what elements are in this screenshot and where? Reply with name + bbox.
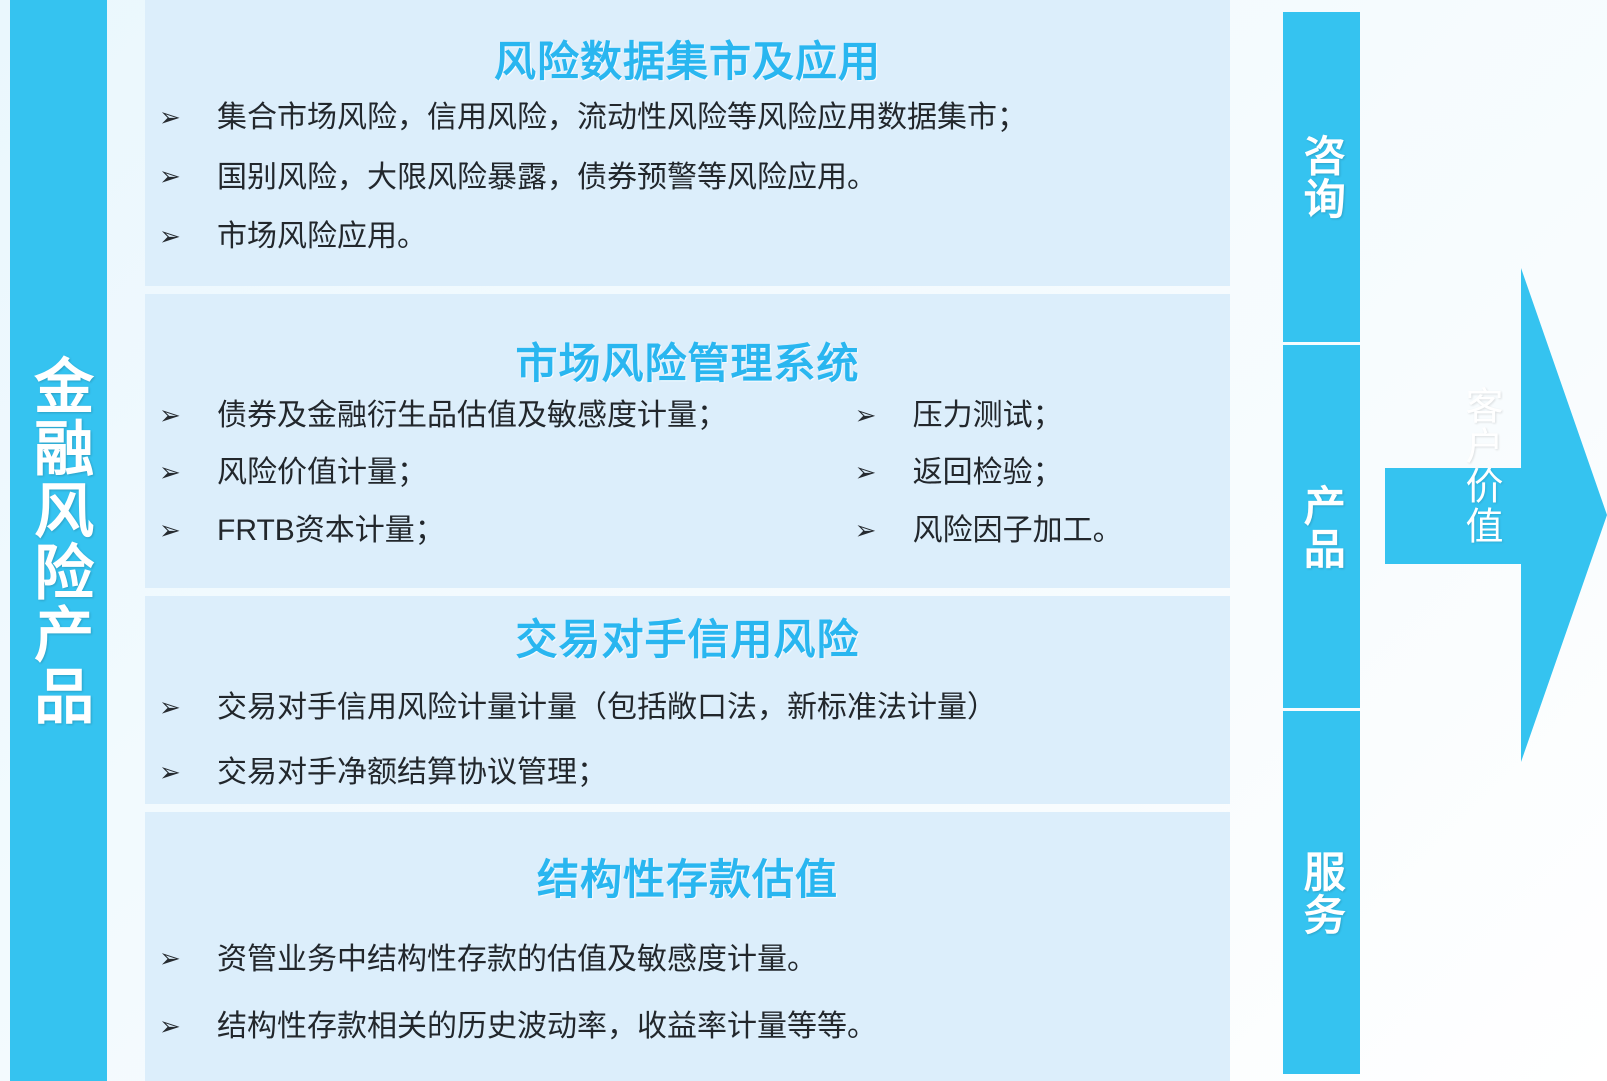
- bullet-item: ➢ 市场风险应用。: [159, 218, 1230, 256]
- pillar-segment-service: 服务: [1283, 711, 1360, 1074]
- arrow-bullet-icon: ➢: [159, 1013, 217, 1039]
- section-card-market-risk-system: 市场风险管理系统 ➢ 债券及金融衍生品估值及敏感度计量； ➢ 风险价值计量； ➢…: [145, 294, 1230, 588]
- arrow-bullet-icon: ➢: [159, 517, 217, 543]
- pillar-segment-consulting: 咨询: [1283, 12, 1360, 342]
- customer-value-arrow: 客户价值: [1380, 268, 1607, 762]
- bullet-item: ➢ 风险价值计量；: [159, 454, 841, 492]
- bullet-label: 风险价值计量；: [217, 454, 427, 492]
- arrow-bullet-icon: ➢: [159, 694, 217, 720]
- arrow-bullet-icon: ➢: [855, 459, 913, 485]
- bullet-item: ➢ 资管业务中结构性存款的估值及敏感度计量。: [159, 941, 1230, 979]
- bullet-list-left: ➢ 债券及金融衍生品估值及敏感度计量； ➢ 风险价值计量； ➢ FRTB资本计量…: [145, 397, 841, 550]
- content-card-stack: 风险数据集市及应用 ➢ 集合市场风险，信用风险，流动性风险等风险应用数据集市； …: [145, 0, 1230, 1081]
- section-title: 风险数据集市及应用: [145, 28, 1230, 89]
- bullet-two-column-wrapper: ➢ 债券及金融衍生品估值及敏感度计量； ➢ 风险价值计量； ➢ FRTB资本计量…: [145, 397, 1230, 550]
- bullet-item: ➢ 压力测试；: [855, 397, 1230, 435]
- slide-canvas: 金融风险产品 风险数据集市及应用 ➢ 集合市场风险，信用风险，流动性风险等风险应…: [0, 0, 1607, 1081]
- bullet-label: 风险因子加工。: [913, 512, 1123, 550]
- section-card-structured-deposit-valuation: 结构性存款估值 ➢ 资管业务中结构性存款的估值及敏感度计量。 ➢ 结构性存款相关…: [145, 812, 1230, 1081]
- bullet-label: 压力测试；: [913, 397, 1063, 435]
- bullet-list: ➢ 集合市场风险，信用风险，流动性风险等风险应用数据集市； ➢ 国别风险，大限风…: [145, 99, 1230, 256]
- section-card-counterparty-credit-risk: 交易对手信用风险 ➢ 交易对手信用风险计量计量（包括敞口法，新标准法计量） ➢ …: [145, 596, 1230, 804]
- bullet-item: ➢ 交易对手净额结算协议管理；: [159, 754, 1230, 792]
- customer-value-label: 客户价值: [1422, 386, 1502, 546]
- bullet-item: ➢ 交易对手信用风险计量计量（包括敞口法，新标准法计量）: [159, 689, 1230, 727]
- bullet-label: 国别风险，大限风险暴露，债券预警等风险应用。: [217, 159, 877, 197]
- section-card-risk-data-mart: 风险数据集市及应用 ➢ 集合市场风险，信用风险，流动性风险等风险应用数据集市； …: [145, 0, 1230, 286]
- bullet-item: ➢ 国别风险，大限风险暴露，债券预警等风险应用。: [159, 159, 1230, 197]
- bullet-item: ➢ FRTB资本计量；: [159, 512, 841, 550]
- arrow-bullet-icon: ➢: [855, 402, 913, 428]
- bullet-list-right: ➢ 压力测试； ➢ 返回检验； ➢ 风险因子加工。: [841, 397, 1230, 550]
- bullet-item: ➢ 结构性存款相关的历史波动率，收益率计量等等。: [159, 1008, 1230, 1046]
- bullet-list: ➢ 资管业务中结构性存款的估值及敏感度计量。 ➢ 结构性存款相关的历史波动率，收…: [145, 941, 1230, 1046]
- bullet-item: ➢ 债券及金融衍生品估值及敏感度计量；: [159, 397, 841, 435]
- arrow-bullet-icon: ➢: [159, 945, 217, 971]
- bullet-label: 交易对手信用风险计量计量（包括敞口法，新标准法计量）: [217, 689, 997, 727]
- section-title: 市场风险管理系统: [145, 330, 1230, 391]
- bullet-label: 集合市场风险，信用风险，流动性风险等风险应用数据集市；: [217, 99, 1027, 137]
- arrow-bullet-icon: ➢: [159, 759, 217, 785]
- bullet-item: ➢ 集合市场风险，信用风险，流动性风险等风险应用数据集市；: [159, 99, 1230, 137]
- bullet-label: 市场风险应用。: [217, 218, 427, 256]
- pillar-segment-product: 产品: [1283, 345, 1360, 708]
- offering-pillar: 咨询 产品 服务: [1283, 12, 1360, 1074]
- arrow-bullet-icon: ➢: [159, 104, 217, 130]
- arrow-bullet-icon: ➢: [159, 402, 217, 428]
- left-category-label: 金融风险产品: [26, 355, 90, 727]
- section-title: 结构性存款估值: [145, 846, 1230, 907]
- bullet-label: 交易对手净额结算协议管理；: [217, 754, 607, 792]
- bullet-label: FRTB资本计量；: [217, 512, 445, 550]
- arrow-bullet-icon: ➢: [855, 517, 913, 543]
- arrow-bullet-icon: ➢: [159, 163, 217, 189]
- bullet-item: ➢ 返回检验；: [855, 454, 1230, 492]
- bullet-list: ➢ 交易对手信用风险计量计量（包括敞口法，新标准法计量） ➢ 交易对手净额结算协…: [145, 689, 1230, 792]
- bullet-label: 结构性存款相关的历史波动率，收益率计量等等。: [217, 1008, 877, 1046]
- bullet-label: 返回检验；: [913, 454, 1063, 492]
- section-title: 交易对手信用风险: [145, 606, 1230, 667]
- arrow-bullet-icon: ➢: [159, 223, 217, 249]
- bullet-label: 债券及金融衍生品估值及敏感度计量；: [217, 397, 727, 435]
- arrow-bullet-icon: ➢: [159, 459, 217, 485]
- left-category-bar: 金融风险产品: [10, 0, 107, 1081]
- bullet-label: 资管业务中结构性存款的估值及敏感度计量。: [217, 941, 817, 979]
- bullet-item: ➢ 风险因子加工。: [855, 512, 1230, 550]
